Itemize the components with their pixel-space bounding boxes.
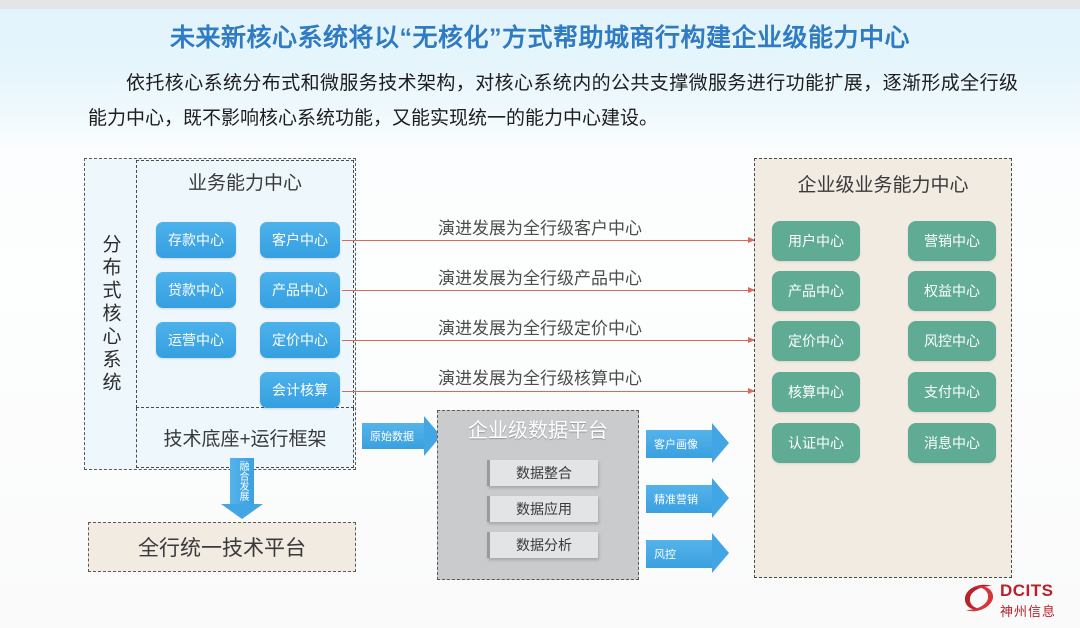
- data-item-analysis[interactable]: 数据分析: [487, 532, 598, 558]
- business-capability-center-title: 业务能力中心: [136, 168, 354, 195]
- dcits-swirl-icon: [962, 582, 996, 614]
- enterprise-panel-title: 企业级业务能力中心: [754, 170, 1012, 197]
- merge-development-arrow-label: 融合发展: [237, 461, 247, 501]
- chip-pricing-center[interactable]: 定价中心: [260, 322, 340, 358]
- merge-development-arrow: 融合发展: [230, 458, 254, 504]
- logo-text-cn: 神州信息: [1000, 601, 1056, 620]
- chip-deposit-center[interactable]: 存款中心: [156, 222, 236, 258]
- chip-accounting-center[interactable]: 会计核算: [260, 372, 340, 408]
- chip-loan-center[interactable]: 贷款中心: [156, 272, 236, 308]
- data-platform-title: 企业级数据平台: [437, 414, 639, 443]
- data-item-integration[interactable]: 数据整合: [487, 460, 598, 486]
- unified-tech-platform: 全行统一技术平台: [88, 522, 356, 572]
- page-subtitle: 依托核心系统分布式和微服务技术架构，对核心系统内的公共支撑微服务进行功能扩展，逐…: [88, 66, 1018, 136]
- outbound-arrow-precision-marketing-label: 精准营销: [646, 491, 698, 507]
- chip-auth-center[interactable]: 认证中心: [772, 423, 860, 463]
- chip-product-center[interactable]: 产品中心: [260, 272, 340, 308]
- connector-label-1: 演进发展为全行级客户中心: [438, 214, 642, 239]
- outbound-arrow-risk-control-label: 风控: [646, 546, 676, 562]
- distributed-core-system-label-wrap: 分布式核心系统: [86, 160, 134, 468]
- outbound-arrow-risk-control: 风控: [646, 540, 712, 568]
- raw-data-arrow: 原始数据: [362, 423, 424, 449]
- chip-ent-pricing-center[interactable]: 定价中心: [772, 321, 860, 361]
- connector-arrow-1: [342, 240, 754, 241]
- chip-message-center[interactable]: 消息中心: [908, 423, 996, 463]
- logo-text-en: DCITS: [1000, 581, 1054, 601]
- distributed-core-system-label: 分布式核心系统: [101, 234, 120, 395]
- chip-payment-center[interactable]: 支付中心: [908, 372, 996, 412]
- chip-user-center[interactable]: 用户中心: [772, 221, 860, 261]
- chip-operations-center[interactable]: 运营中心: [156, 322, 236, 358]
- connector-arrow-2: [342, 290, 754, 291]
- connector-arrow-3: [342, 340, 754, 341]
- chip-rights-center[interactable]: 权益中心: [908, 271, 996, 311]
- chip-marketing-center[interactable]: 营销中心: [908, 221, 996, 261]
- brand-logo: DCITS 神州信息: [962, 578, 1072, 622]
- chip-ent-product-center[interactable]: 产品中心: [772, 271, 860, 311]
- raw-data-arrow-label: 原始数据: [362, 428, 414, 444]
- slide-root: 未来新核心系统将以“无核化”方式帮助城商行构建企业级能力中心 依托核心系统分布式…: [0, 0, 1080, 628]
- chip-ent-accounting-center[interactable]: 核算中心: [772, 372, 860, 412]
- outbound-arrow-customer-profile: 客户画像: [646, 430, 712, 458]
- top-strip: [0, 0, 1080, 9]
- outbound-arrow-customer-profile-label: 客户画像: [646, 436, 698, 452]
- data-item-application[interactable]: 数据应用: [487, 496, 598, 522]
- connector-label-4: 演进发展为全行级核算中心: [438, 364, 642, 389]
- outbound-arrow-precision-marketing: 精准营销: [646, 485, 712, 513]
- connector-arrow-4: [342, 391, 754, 392]
- chip-risk-center[interactable]: 风控中心: [908, 321, 996, 361]
- chip-customer-center[interactable]: 客户中心: [260, 222, 340, 258]
- connector-label-2: 演进发展为全行级产品中心: [438, 264, 642, 289]
- page-title: 未来新核心系统将以“无核化”方式帮助城商行构建企业级能力中心: [0, 18, 1080, 54]
- connector-label-3: 演进发展为全行级定价中心: [438, 314, 642, 339]
